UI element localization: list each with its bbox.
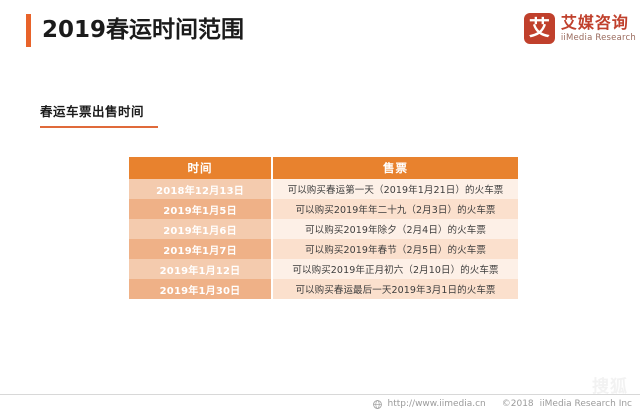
page-header: 2019春运时间范围 艾 艾媒咨询 iiMedia Research bbox=[0, 0, 640, 66]
section-subheading: 春运车票出售时间 bbox=[40, 101, 158, 126]
table-row: 2018年12月13日 可以购买春运第一天（2019年1月21日）的火车票 bbox=[129, 179, 518, 199]
page-footer: http://www.iimedia.cn ©2018 iiMedia Rese… bbox=[373, 399, 633, 409]
footer-divider bbox=[0, 394, 640, 395]
brand-text: 艾媒咨询 iiMedia Research bbox=[561, 15, 636, 43]
table-row: 2019年1月7日 可以购买2019年春节（2月5日）的火车票 bbox=[129, 239, 518, 259]
title-accent-bar bbox=[26, 14, 31, 47]
cell-sale: 可以购买2019年正月初六（2月10日）的火车票 bbox=[272, 259, 518, 279]
brand-name-en: iiMedia Research bbox=[561, 34, 636, 43]
cell-time: 2019年1月12日 bbox=[129, 259, 272, 279]
brand-name-cn: 艾媒咨询 bbox=[561, 15, 636, 31]
column-header-time: 时间 bbox=[129, 157, 272, 179]
cell-time: 2019年1月6日 bbox=[129, 219, 272, 239]
cell-time: 2019年1月30日 bbox=[129, 279, 272, 299]
table-row: 2019年1月30日 可以购买春运最后一天2019年3月1日的火车票 bbox=[129, 279, 518, 299]
footer-url: http://www.iimedia.cn bbox=[388, 399, 486, 409]
globe-icon bbox=[373, 400, 382, 409]
cell-time: 2019年1月5日 bbox=[129, 199, 272, 219]
cell-sale: 可以购买2019年除夕（2月4日）的火车票 bbox=[272, 219, 518, 239]
table-row: 2019年1月5日 可以购买2019年年二十九（2月3日）的火车票 bbox=[129, 199, 518, 219]
iimedia-logo-mark: 艾 bbox=[524, 13, 555, 44]
column-header-sale: 售票 bbox=[272, 157, 518, 179]
section-heading-group: 春运车票出售时间 bbox=[40, 101, 158, 128]
page-title: 2019春运时间范围 bbox=[42, 14, 244, 46]
cell-sale: 可以购买春运第一天（2019年1月21日）的火车票 bbox=[272, 179, 518, 199]
section-underline bbox=[40, 126, 158, 128]
cell-time: 2018年12月13日 bbox=[129, 179, 272, 199]
footer-copyright: ©2018 bbox=[502, 399, 534, 409]
cell-sale: 可以购买2019年春节（2月5日）的火车票 bbox=[272, 239, 518, 259]
table-header-row: 时间 售票 bbox=[129, 157, 518, 179]
brand-logo: 艾 艾媒咨询 iiMedia Research bbox=[524, 13, 636, 44]
table-row: 2019年1月6日 可以购买2019年除夕（2月4日）的火车票 bbox=[129, 219, 518, 239]
schedule-table: 时间 售票 2018年12月13日 可以购买春运第一天（2019年1月21日）的… bbox=[129, 157, 518, 299]
table-row: 2019年1月12日 可以购买2019年正月初六（2月10日）的火车票 bbox=[129, 259, 518, 279]
cell-time: 2019年1月7日 bbox=[129, 239, 272, 259]
footer-company: iiMedia Research Inc bbox=[540, 399, 632, 409]
cell-sale: 可以购买春运最后一天2019年3月1日的火车票 bbox=[272, 279, 518, 299]
cell-sale: 可以购买2019年年二十九（2月3日）的火车票 bbox=[272, 199, 518, 219]
